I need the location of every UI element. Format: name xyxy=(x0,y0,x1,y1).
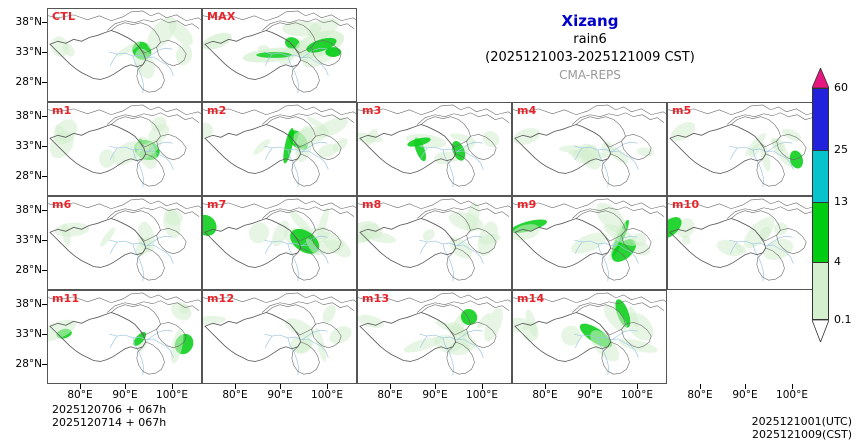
x-tick-mark xyxy=(590,384,591,389)
colorbar-segment xyxy=(812,88,829,150)
precip-field xyxy=(358,127,503,166)
colorbar-tick-label: 0.1 xyxy=(834,313,852,326)
panel-label: MAX xyxy=(207,10,236,23)
x-tick-label: 100°E xyxy=(617,389,657,401)
x-tick-label: 100°E xyxy=(152,389,192,401)
precip-field xyxy=(48,298,197,365)
map-panel-ctl[interactable]: CTL xyxy=(47,8,202,102)
panel-label: m14 xyxy=(517,292,544,305)
model-label: CMA-REPS xyxy=(430,67,750,84)
colorbar-tick-label: 4 xyxy=(834,255,841,268)
precip-field xyxy=(203,303,355,363)
map-panel-m13[interactable]: m13 xyxy=(357,290,512,384)
y-tick-label: 33°N xyxy=(0,328,42,340)
precip-field xyxy=(513,297,659,366)
x-tick-mark xyxy=(700,384,701,389)
y-tick-mark xyxy=(42,364,47,365)
precip-field xyxy=(203,113,351,164)
colorbar-segment xyxy=(812,150,829,202)
x-tick-mark xyxy=(280,384,281,389)
panel-label: m13 xyxy=(362,292,389,305)
colorbar-over-arrow xyxy=(812,68,829,88)
x-tick-mark xyxy=(745,384,746,389)
panel-label: m10 xyxy=(672,198,699,211)
y-tick-mark xyxy=(42,210,47,211)
panel-label: m7 xyxy=(207,198,227,211)
panel-label: m9 xyxy=(517,198,537,211)
x-tick-mark xyxy=(235,384,236,389)
variable-label: rain6 xyxy=(430,31,750,49)
x-tick-mark xyxy=(792,384,793,389)
precip-field xyxy=(668,212,796,264)
precip-field xyxy=(513,125,654,173)
map-panel-max[interactable]: MAX xyxy=(202,8,357,102)
map-panel-m3[interactable]: m3 xyxy=(357,102,512,196)
x-tick-label: 80°E xyxy=(60,389,100,401)
map-panel-m8[interactable]: m8 xyxy=(357,196,512,290)
x-tick-label: 80°E xyxy=(370,389,410,401)
map-panel-m4[interactable]: m4 xyxy=(512,102,667,196)
y-tick-label: 38°N xyxy=(0,298,42,310)
footer-left-line2: 2025120714 + 067h xyxy=(52,416,166,429)
map-panel-m14[interactable]: m14 xyxy=(512,290,667,384)
precip-field xyxy=(203,207,355,262)
colorbar-segment xyxy=(812,202,829,262)
map-panel-m5[interactable]: m5 xyxy=(667,102,822,196)
y-tick-mark xyxy=(42,22,47,23)
x-tick-mark xyxy=(327,384,328,389)
x-tick-label: 90°E xyxy=(260,389,300,401)
x-tick-label: 80°E xyxy=(680,389,720,401)
y-tick-mark xyxy=(42,334,47,335)
y-tick-label: 38°N xyxy=(0,204,42,216)
y-tick-label: 33°N xyxy=(0,234,42,246)
map-panel-m6[interactable]: m6 xyxy=(47,196,202,290)
y-tick-mark xyxy=(42,116,47,117)
map-panel-m11[interactable]: m11 xyxy=(47,290,202,384)
map-panel-m10[interactable]: m10 xyxy=(667,196,822,290)
x-tick-mark xyxy=(637,384,638,389)
panel-label: m12 xyxy=(207,292,234,305)
x-tick-label: 80°E xyxy=(215,389,255,401)
panel-label: m4 xyxy=(517,104,537,117)
x-tick-mark xyxy=(435,384,436,389)
figure-root: Xizang rain6 (2025121003-2025121009 CST)… xyxy=(0,0,860,448)
y-tick-label: 28°N xyxy=(0,264,42,276)
map-panel-m12[interactable]: m12 xyxy=(202,290,357,384)
panel-label: m2 xyxy=(207,104,227,117)
panel-label: m5 xyxy=(672,104,692,117)
period-label: (2025121003-2025121009 CST) xyxy=(430,49,750,67)
x-tick-label: 90°E xyxy=(415,389,455,401)
y-tick-mark xyxy=(42,240,47,241)
y-tick-label: 33°N xyxy=(0,46,42,58)
x-tick-label: 90°E xyxy=(570,389,610,401)
colorbar-tick-label: 13 xyxy=(834,195,848,208)
x-tick-mark xyxy=(172,384,173,389)
panel-label: CTL xyxy=(52,10,75,23)
y-tick-mark xyxy=(42,304,47,305)
panel-label: m8 xyxy=(362,198,382,211)
colorbar-tick-label: 60 xyxy=(834,81,848,94)
x-tick-mark xyxy=(482,384,483,389)
x-tick-label: 100°E xyxy=(462,389,502,401)
map-panel-m9[interactable]: m9 xyxy=(512,196,667,290)
y-tick-mark xyxy=(42,82,47,83)
y-tick-mark xyxy=(42,52,47,53)
panel-label: m6 xyxy=(52,198,72,211)
x-tick-mark xyxy=(390,384,391,389)
panel-label: m1 xyxy=(52,104,72,117)
map-panel-m7[interactable]: m7 xyxy=(202,196,357,290)
y-tick-mark xyxy=(42,270,47,271)
footer-right-line1: 2025121001(UTC) xyxy=(752,415,852,428)
page-title: Xizang xyxy=(430,12,750,31)
colorbar-under-arrow xyxy=(812,320,829,342)
borders xyxy=(668,105,821,186)
panel-label: m3 xyxy=(362,104,382,117)
y-tick-label: 28°N xyxy=(0,358,42,370)
footer-left-line1: 2025120706 + 067h xyxy=(52,403,166,416)
x-tick-label: 90°E xyxy=(105,389,145,401)
x-tick-label: 100°E xyxy=(772,389,812,401)
x-tick-mark xyxy=(545,384,546,389)
title-block: Xizang rain6 (2025121003-2025121009 CST)… xyxy=(430,12,750,84)
colorbar-tick-label: 25 xyxy=(834,143,848,156)
x-tick-label: 90°E xyxy=(725,389,765,401)
y-tick-mark xyxy=(42,176,47,177)
panel-label: m11 xyxy=(52,292,79,305)
footer-right-line2: 2025121009(CST) xyxy=(752,428,852,441)
y-tick-label: 38°N xyxy=(0,16,42,28)
x-tick-mark xyxy=(80,384,81,389)
colorbar-segment xyxy=(812,262,829,320)
x-tick-mark xyxy=(125,384,126,389)
precip-field xyxy=(54,207,184,260)
map-panel-m1[interactable]: m1 xyxy=(47,102,202,196)
y-tick-label: 28°N xyxy=(0,76,42,88)
x-tick-label: 80°E xyxy=(525,389,565,401)
y-tick-label: 28°N xyxy=(0,170,42,182)
y-tick-label: 33°N xyxy=(0,140,42,152)
y-tick-label: 38°N xyxy=(0,110,42,122)
x-tick-label: 100°E xyxy=(307,389,347,401)
y-tick-mark xyxy=(42,146,47,147)
map-panel-m2[interactable]: m2 xyxy=(202,102,357,196)
